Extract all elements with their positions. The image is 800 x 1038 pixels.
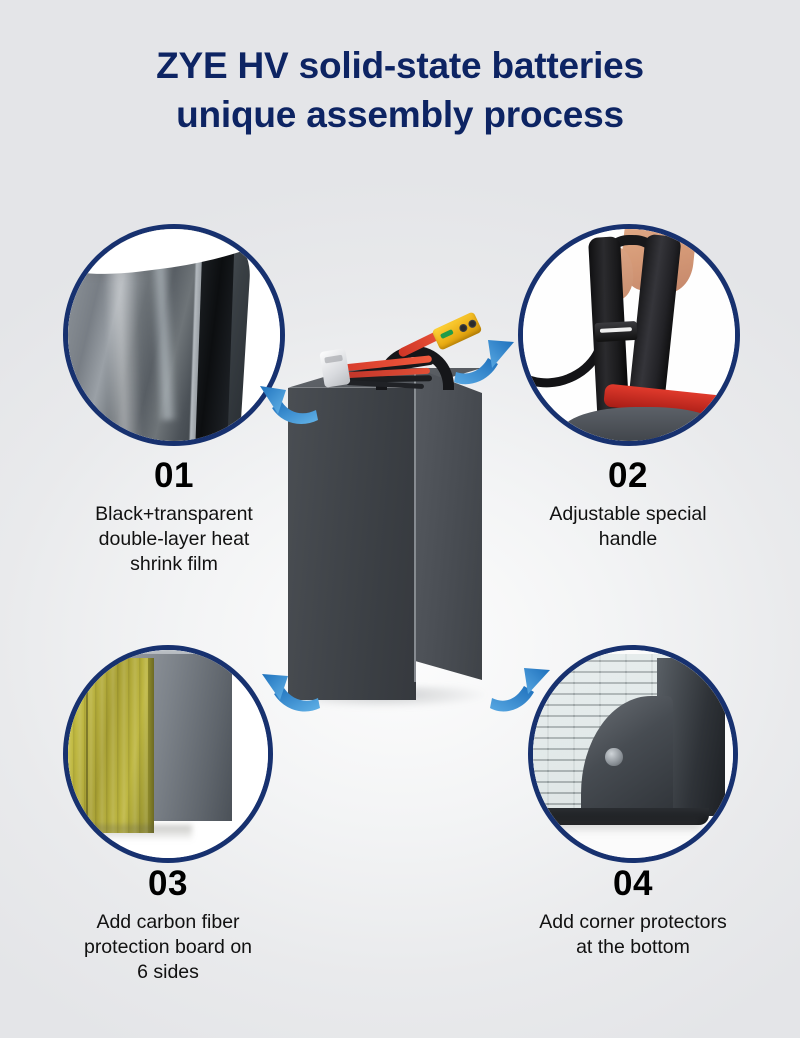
battery-case-front <box>288 388 416 700</box>
corner-protector-photo <box>533 650 733 858</box>
caption-line: 6 sides <box>18 960 318 985</box>
caption-line: protection board on <box>18 935 318 960</box>
arrow-to-callout-03 <box>252 660 324 716</box>
caption-line: shrink film <box>24 552 324 577</box>
callout-02-caption: Adjustable special handle <box>478 502 778 553</box>
arrow-to-callout-02 <box>450 330 526 390</box>
infographic-page: ZYE HV solid-state batteries unique asse… <box>0 0 800 1038</box>
callout-02-number: 02 <box>478 458 778 495</box>
arrow-to-callout-04 <box>486 660 560 716</box>
callout-03-label: 03 Add carbon fiber protection board on … <box>18 866 318 986</box>
carbon-fiber-board-photo <box>68 650 268 858</box>
callout-04-number: 04 <box>478 866 788 903</box>
callout-01-number: 01 <box>24 458 324 495</box>
callout-01-caption: Black+transparent double-layer heat shri… <box>24 502 324 578</box>
jst-balance-connector <box>319 348 350 388</box>
title-line-2: unique assembly process <box>0 91 800 140</box>
caption-line: Adjustable special <box>478 502 778 527</box>
velcro-handle-photo <box>523 229 735 441</box>
caption-line: Add corner protectors <box>478 910 788 935</box>
heat-shrink-film-photo <box>68 229 280 441</box>
callout-04-caption: Add corner protectors at the bottom <box>478 910 788 961</box>
caption-line: double-layer heat <box>24 527 324 552</box>
title-line-1: ZYE HV solid-state batteries <box>0 42 800 91</box>
callout-02-label: 02 Adjustable special handle <box>478 458 778 552</box>
battery-case-side <box>416 368 482 680</box>
callout-03-caption: Add carbon fiber protection board on 6 s… <box>18 910 318 986</box>
battery-case-edge <box>414 370 416 682</box>
caption-line: at the bottom <box>478 935 788 960</box>
arrow-to-callout-01 <box>252 368 322 430</box>
callout-01-label: 01 Black+transparent double-layer heat s… <box>24 458 324 578</box>
callout-03-number: 03 <box>18 866 318 903</box>
callout-04-label: 04 Add corner protectors at the bottom <box>478 866 788 960</box>
callout-02-bubble[interactable] <box>518 224 740 446</box>
caption-line: Add carbon fiber <box>18 910 318 935</box>
page-title: ZYE HV solid-state batteries unique asse… <box>0 42 800 140</box>
caption-line: handle <box>478 527 778 552</box>
caption-line: Black+transparent <box>24 502 324 527</box>
callout-03-bubble[interactable] <box>63 645 273 863</box>
